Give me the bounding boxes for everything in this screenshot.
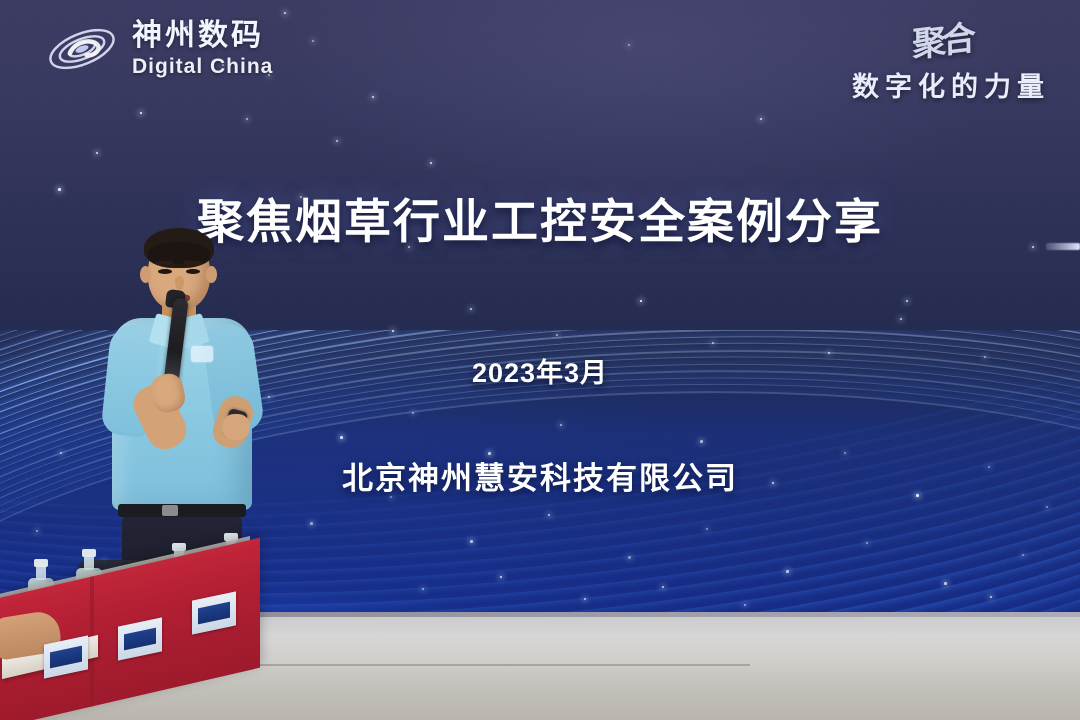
speaker-belt-buckle <box>162 505 178 516</box>
screen-edge-light <box>1046 243 1080 250</box>
event-calligraphy: 聚合 <box>912 10 972 67</box>
digital-china-swirl-icon <box>44 18 120 80</box>
speaker-belt <box>118 504 246 517</box>
event-brand: 聚合 数字化的力量 <box>852 14 1050 104</box>
logo-english-name: Digital China <box>132 56 273 77</box>
conference-photo: 神州数码 Digital China 聚合 数字化的力量 聚焦烟草行业工控安全案… <box>0 0 1080 720</box>
speaker-ear-right <box>206 266 217 283</box>
speaker-ear-left <box>140 266 151 283</box>
speaker-shirt-logo <box>191 346 213 362</box>
logo-chinese-name: 神州数码 <box>132 21 273 51</box>
speaker-right-hand <box>222 414 250 440</box>
bottle-neck <box>36 565 46 580</box>
speaker-eye-right <box>186 269 200 274</box>
speaker-hair <box>144 228 214 268</box>
event-tagline: 数字化的力量 <box>852 65 1050 104</box>
speaker-nose <box>175 276 184 290</box>
digital-china-logo: 神州数码 Digital China <box>44 18 273 80</box>
speaker-eye-left <box>158 269 172 274</box>
stage-floor-seam <box>230 664 750 666</box>
bottle-neck <box>84 555 94 570</box>
